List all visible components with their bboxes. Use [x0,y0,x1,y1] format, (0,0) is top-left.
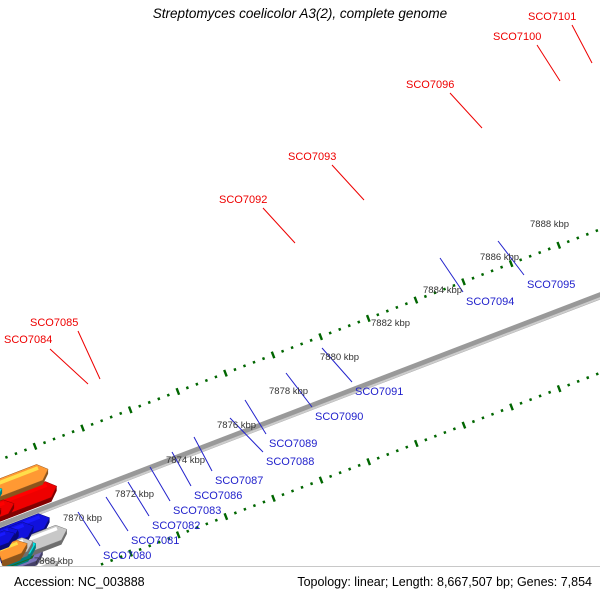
scale-tick-dash [349,468,350,470]
scale-tick-dash [302,486,303,488]
scale-tick-dash [73,430,74,432]
scale-tick-dash [568,384,569,386]
scale-tick-label: 7876 kbp [217,420,256,431]
scale-tick-dash [367,458,370,465]
scale-tick-label: 7888 kbp [530,219,569,230]
scale-tick-dash [425,439,426,441]
scale-tick-dash [587,376,588,378]
scale-tick-dash [101,420,102,422]
scale-tick-dash [510,404,513,411]
label-leader-line [572,25,592,63]
scale-tick-dash [311,339,312,341]
topology-text: Topology: linear; Length: 8,667,507 bp; … [297,575,592,589]
scale-tick-dash [444,431,445,433]
scale-tick-dash [501,266,502,268]
scale-tick-dash [292,490,293,492]
scale-tick-dash [320,477,323,484]
scale-tick-label: 7870 kbp [63,513,102,524]
scale-tick-dash [539,251,540,253]
scale-tick-dash [339,328,340,330]
scale-tick-dash [272,352,275,359]
scale-tick-dash [92,423,93,425]
scale-tick-dash [358,321,359,323]
scale-tick-label: 7880 kbp [320,352,359,363]
scale-tick-dash [206,379,207,381]
genome-viewer: Streptomyces coelicolor A3(2), complete … [0,0,600,600]
scale-tick-dash [6,456,7,458]
gene-label[interactable]: SCO7094 [466,296,514,308]
scale-tick-dash [283,493,284,495]
scale-tick-label: 7872 kbp [115,489,154,500]
scale-tick-dash [263,501,264,503]
scale-tick-dash [462,279,465,286]
scale-tick-dash [463,422,466,429]
gene-label[interactable]: SCO7087 [215,475,263,487]
scale-tick-dash [34,443,37,450]
label-leader-line [78,331,100,379]
gene-label[interactable]: SCO7080 [103,550,151,562]
gene-label[interactable]: SCO7082 [152,520,200,532]
scale-tick-dash [387,310,388,312]
gene-label[interactable]: SCO7086 [194,490,242,502]
scale-tick-dash [292,346,293,348]
scale-tick-dash [225,513,228,520]
scale-tick-label: 7878 kbp [269,386,308,397]
genome-map-canvas[interactable]: Streptomyces coelicolor A3(2), complete … [0,0,600,566]
scale-tick-dash [577,237,578,239]
label-leader-line [106,497,128,531]
gene-label[interactable]: SCO7091 [355,386,403,398]
scale-tick-dash [473,420,474,422]
scale-tick-dash [330,332,331,334]
label-leader-line [537,45,560,81]
scale-tick-dash [111,416,112,418]
scale-tick-dash [454,428,455,430]
scale-tick-label: 7874 kbp [166,455,205,466]
scale-tick-label: 7886 kbp [480,252,519,263]
scale-tick-dash [129,406,132,413]
scale-tick-dash [435,435,436,437]
scale-tick-label: 7884 kbp [423,285,462,296]
scale-tick-dash [520,259,521,261]
scale-tick-dash [168,394,169,396]
scale-tick-dash [596,229,597,231]
scale-tick-dash [196,383,197,385]
gene-label[interactable]: SCO7089 [269,438,317,450]
scale-tick-dash [568,240,569,242]
scale-tick-dash [415,440,418,447]
scale-tick-dash [187,387,188,389]
scale-tick-dash [406,303,407,305]
label-leader-line [450,93,482,128]
scale-tick-dash [521,402,522,404]
scale-tick-dash [367,315,370,322]
scale-tick-dash [406,446,407,448]
scale-tick-dash [557,242,560,249]
scale-tick-dash [81,425,84,432]
scale-tick-dash [301,343,302,345]
scale-tick-dash [415,297,418,304]
scale-tick-dash [272,495,275,502]
scale-tick-dash [492,270,493,272]
accession-text: Accession: NC_003888 [14,575,145,589]
scale-tick-dash [158,398,159,400]
scale-tick-dash [102,563,103,565]
scale-tick-dash [549,248,550,250]
gene-label[interactable]: SCO7083 [173,505,221,517]
gene-label[interactable]: SCO7095 [527,279,575,291]
scale-tick-dash [120,412,121,414]
gene-label[interactable]: SCO7081 [131,535,179,547]
scale-tick-dash [206,523,207,525]
scale-tick-dash [244,365,245,367]
scale-tick-dash [254,504,255,506]
gene-label[interactable]: SCO7092 [219,194,267,206]
scale-tick-dash [340,472,341,474]
scale-tick-dash [44,441,45,443]
scale-tick-dash [311,482,312,484]
label-leader-line [332,165,364,200]
scale-tick-dash [149,401,150,403]
scale-tick-dash [396,306,397,308]
genome-map-graphics [0,0,600,566]
page-title: Streptomyces coelicolor A3(2), complete … [0,6,600,21]
scale-tick-dash [530,255,531,257]
scale-tick-dash [359,464,360,466]
scale-tick-dash [177,388,180,395]
gene-label[interactable]: SCO7093 [288,151,336,163]
scale-tick-dash [319,333,322,340]
scale-tick-dash [377,314,378,316]
scale-tick-dash [397,450,398,452]
scale-tick-dash [254,361,255,363]
scale-tick-dash [63,434,64,436]
gene-label[interactable]: SCO7085 [30,317,78,329]
scale-tick-dash [492,413,493,415]
scale-tick-dash [235,512,236,514]
scale-tick-dash [15,452,16,454]
scale-tick-dash [587,233,588,235]
label-leader-line [50,349,88,384]
scale-tick-dash [215,376,216,378]
scale-tick-dash [330,475,331,477]
status-bar: Accession: NC_003888 Topology: linear; L… [0,566,600,601]
gene-label[interactable]: SCO7096 [406,79,454,91]
scale-tick-dash [387,453,388,455]
gene-label[interactable]: SCO7088 [266,456,314,468]
scale-tick-dash [139,405,140,407]
scale-tick-dash [597,373,598,375]
scale-tick-label: 7882 kbp [371,318,410,329]
scale-tick-dash [244,508,245,510]
gene-label[interactable]: SCO7090 [315,411,363,423]
scale-tick-dash [549,391,550,393]
scale-tick-dash [54,438,55,440]
scale-tick-dash [540,395,541,397]
scale-tick-dash [263,357,264,359]
scale-tick-dash [482,273,483,275]
scale-tick-dash [578,380,579,382]
scale-tick-dash [235,368,236,370]
scale-tick-dash [25,449,26,451]
scale-tick-dash [224,370,227,377]
scale-tick-dash [530,398,531,400]
gene-label[interactable]: SCO7084 [4,334,52,346]
label-leader-line [263,208,295,243]
scale-tick-dash [349,324,350,326]
gene-label[interactable]: SCO7100 [493,31,541,43]
scale-tick-dash [282,350,283,352]
scale-tick-dash [473,277,474,279]
gene-label[interactable]: SCO7101 [528,11,576,23]
scale-tick-dash [378,457,379,459]
scale-tick-dash [216,519,217,521]
scale-tick-dash [558,385,561,392]
scale-tick-dash [483,417,484,419]
scale-tick-label: 7868 kbp [34,556,73,566]
scale-tick-dash [502,409,503,411]
